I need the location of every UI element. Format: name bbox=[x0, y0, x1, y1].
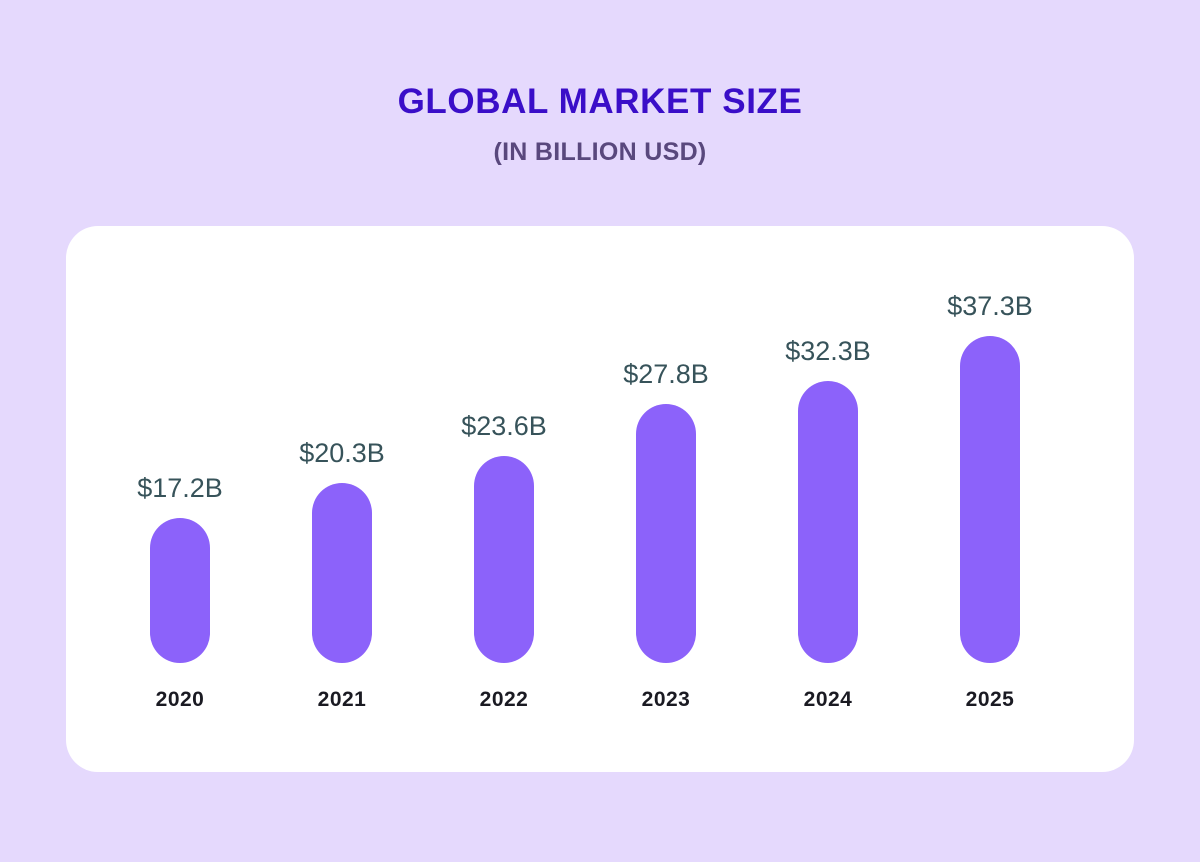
bar-category-label: 2020 bbox=[99, 688, 261, 712]
bar[interactable] bbox=[150, 518, 210, 663]
bar-group[interactable]: $27.8B2023 bbox=[585, 226, 747, 772]
bar-value-label: $37.3B bbox=[909, 291, 1071, 322]
bar[interactable] bbox=[960, 336, 1020, 663]
bar-track bbox=[261, 483, 423, 663]
bar-group[interactable]: $23.6B2022 bbox=[423, 226, 585, 772]
bar[interactable] bbox=[312, 483, 372, 663]
bar-category-label: 2024 bbox=[747, 688, 909, 712]
bar-category-label: 2025 bbox=[909, 688, 1071, 712]
bar-value-label: $23.6B bbox=[423, 411, 585, 442]
bar-track bbox=[99, 518, 261, 663]
bar-chart-plot: $17.2B2020$20.3B2021$23.6B2022$27.8B2023… bbox=[66, 226, 1134, 772]
bar-value-label: $32.3B bbox=[747, 336, 909, 367]
bar-group[interactable]: $32.3B2024 bbox=[747, 226, 909, 772]
bar-category-label: 2021 bbox=[261, 688, 423, 712]
bar-track bbox=[423, 456, 585, 663]
bar-category-label: 2022 bbox=[423, 688, 585, 712]
bar-track bbox=[747, 381, 909, 663]
bar-category-label: 2023 bbox=[585, 688, 747, 712]
bar-group[interactable]: $17.2B2020 bbox=[99, 226, 261, 772]
page-subtitle: (IN BILLION USD) bbox=[0, 138, 1200, 166]
bar[interactable] bbox=[474, 456, 534, 663]
bar-track bbox=[585, 404, 747, 663]
page-title: GLOBAL MARKET SIZE bbox=[0, 82, 1200, 121]
bar-track bbox=[909, 336, 1071, 663]
bar-value-label: $27.8B bbox=[585, 359, 747, 390]
bar[interactable] bbox=[798, 381, 858, 663]
bar[interactable] bbox=[636, 404, 696, 663]
bar-group[interactable]: $20.3B2021 bbox=[261, 226, 423, 772]
bar-value-label: $20.3B bbox=[261, 438, 423, 469]
infographic-page: GLOBAL MARKET SIZE (IN BILLION USD) $17.… bbox=[0, 0, 1200, 862]
chart-header: GLOBAL MARKET SIZE (IN BILLION USD) bbox=[0, 82, 1200, 166]
bar-value-label: $17.2B bbox=[99, 473, 261, 504]
bar-group[interactable]: $37.3B2025 bbox=[909, 226, 1071, 772]
chart-card: $17.2B2020$20.3B2021$23.6B2022$27.8B2023… bbox=[66, 226, 1134, 772]
